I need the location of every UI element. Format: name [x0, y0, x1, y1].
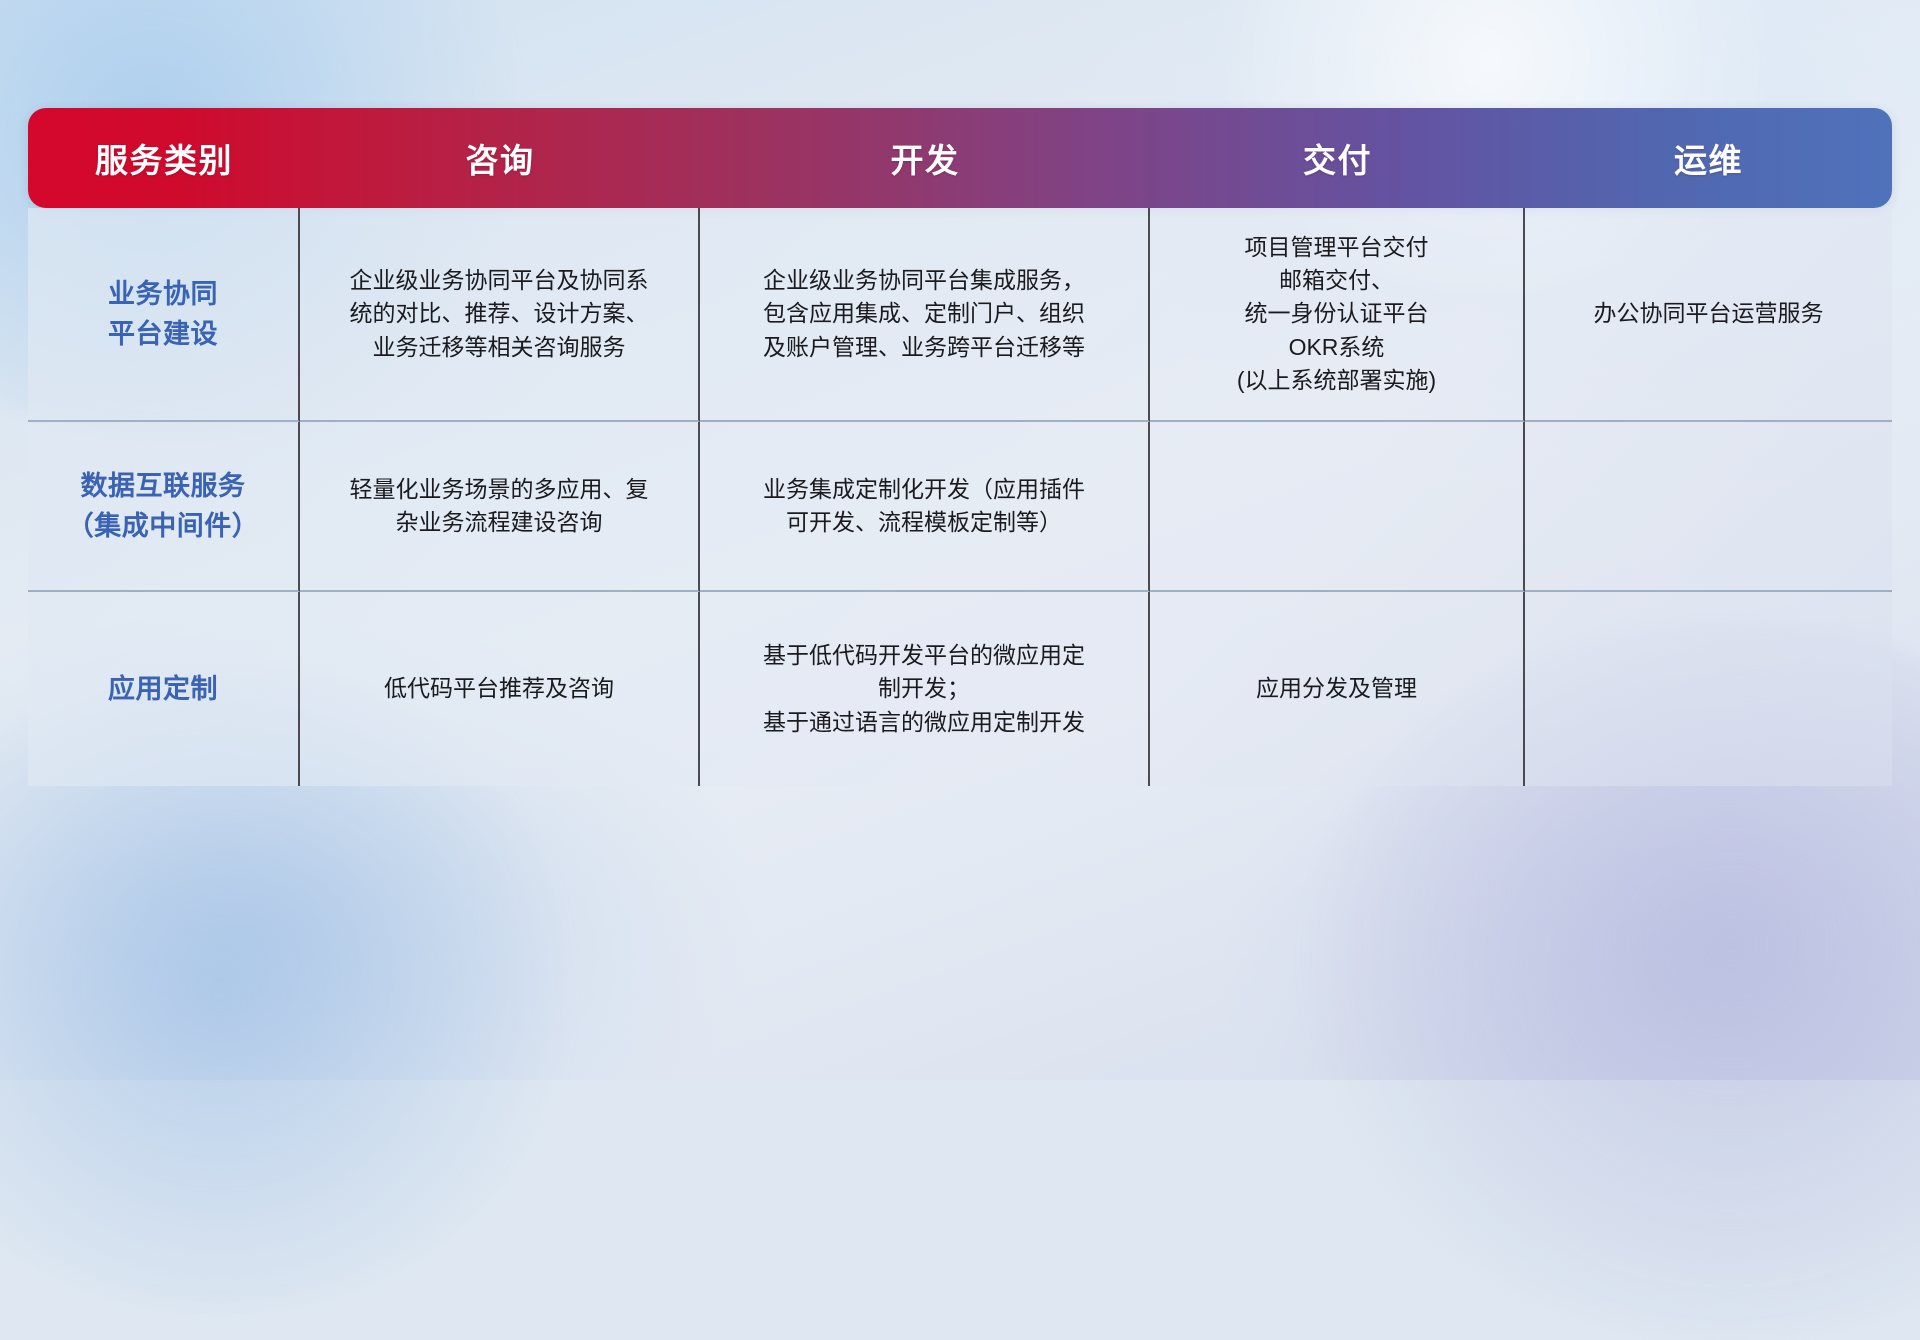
- cell-consulting: 轻量化业务场景的多应用、复 杂业务流程建设咨询: [300, 422, 700, 592]
- cell-operations: 办公协同平台运营服务: [1525, 208, 1892, 422]
- column-header-consulting: 咨询: [300, 108, 700, 208]
- table-body: 业务协同 平台建设 企业级业务协同平台及协同系 统的对比、推荐、设计方案、 业务…: [28, 208, 1892, 786]
- cell-category: 数据互联服务 （集成中间件）: [28, 422, 300, 592]
- column-header-development: 开发: [700, 108, 1150, 208]
- service-matrix-table: 服务类别 咨询 开发 交付 运维 业务协同 平台建设 企业级业务协同平台及协同系…: [28, 108, 1892, 786]
- column-header-category: 服务类别: [28, 108, 300, 208]
- cell-development: 业务集成定制化开发（应用插件 可开发、流程模板定制等）: [700, 422, 1150, 592]
- cell-operations: [1525, 422, 1892, 592]
- table-header-row: 服务类别 咨询 开发 交付 运维: [28, 108, 1892, 208]
- column-header-operations: 运维: [1525, 108, 1892, 208]
- cell-operations: [1525, 592, 1892, 786]
- cell-delivery: [1150, 422, 1525, 592]
- cell-category: 业务协同 平台建设: [28, 208, 300, 422]
- cell-consulting: 低代码平台推荐及咨询: [300, 592, 700, 786]
- table-row: 业务协同 平台建设 企业级业务协同平台及协同系 统的对比、推荐、设计方案、 业务…: [28, 208, 1892, 422]
- cell-category: 应用定制: [28, 592, 300, 786]
- cell-development: 基于低代码开发平台的微应用定 制开发； 基于通过语言的微应用定制开发: [700, 592, 1150, 786]
- table-row: 应用定制 低代码平台推荐及咨询 基于低代码开发平台的微应用定 制开发； 基于通过…: [28, 592, 1892, 786]
- column-header-delivery: 交付: [1150, 108, 1525, 208]
- table-row: 数据互联服务 （集成中间件） 轻量化业务场景的多应用、复 杂业务流程建设咨询 业…: [28, 422, 1892, 592]
- cell-delivery: 项目管理平台交付 邮箱交付、 统一身份认证平台 OKR系统 (以上系统部署实施): [1150, 208, 1525, 422]
- cell-delivery: 应用分发及管理: [1150, 592, 1525, 786]
- cell-development: 企业级业务协同平台集成服务， 包含应用集成、定制门户、组织 及账户管理、业务跨平…: [700, 208, 1150, 422]
- cell-consulting: 企业级业务协同平台及协同系 统的对比、推荐、设计方案、 业务迁移等相关咨询服务: [300, 208, 700, 422]
